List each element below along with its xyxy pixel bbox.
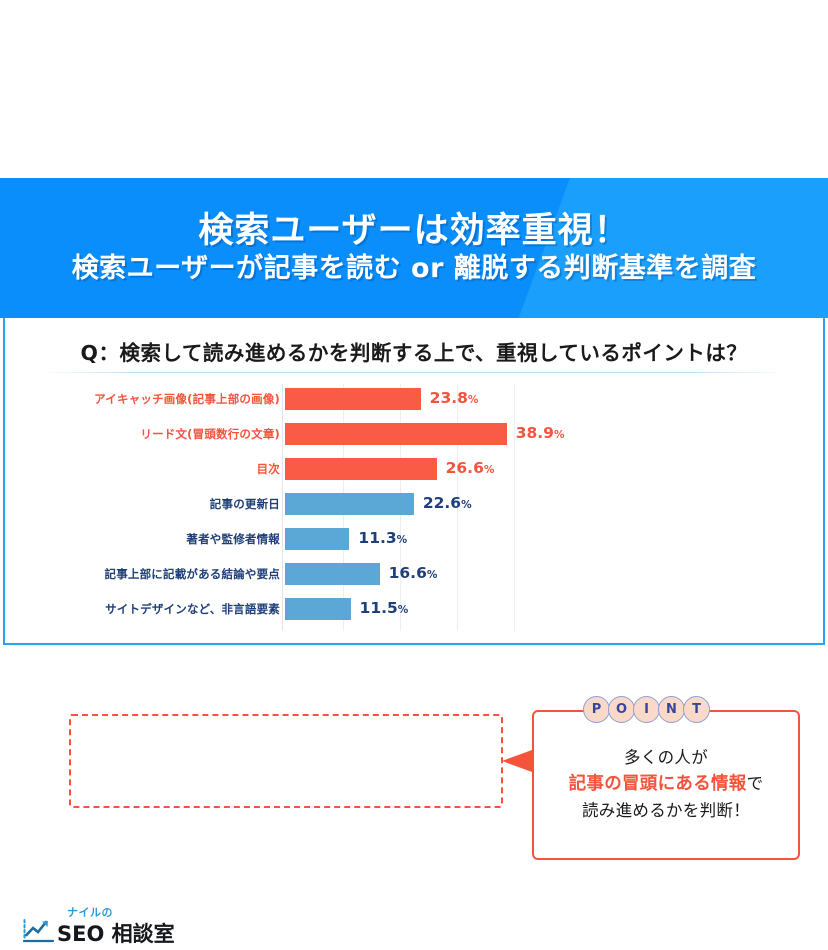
bar-rect <box>285 388 421 410</box>
question-heading: Q：検索して読み進めるかを判断する上で、重視しているポイントは？ <box>5 336 823 366</box>
bar-value-label: 11.3% <box>358 529 407 547</box>
chart-row: 記事の更新日22.6% <box>5 489 823 519</box>
bar-rect <box>285 458 437 480</box>
brand-logo: ナイルの SEO 相談室 <box>23 904 173 950</box>
bar-rect <box>285 598 351 620</box>
point-badge-letter: O <box>608 696 635 723</box>
logo-title: SEO 相談室 <box>57 918 175 948</box>
bar-chart: アイキャッチ画像(記事上部の画像)23.8%リード文(冒頭数行の文章)38.9%… <box>5 380 823 643</box>
bar-category-label: アイキャッチ画像(記事上部の画像) <box>94 391 280 407</box>
bar-rect <box>285 423 507 445</box>
bar-value-number: 11.3 <box>358 529 396 547</box>
infographic-root: 検索ユーザーは効率重視！ 検索ユーザーが記事を読む or 離脱する判断基準を調査… <box>0 0 828 828</box>
content-panel: Q：検索して読み進めるかを判断する上で、重視しているポイントは？ アイキャッチ画… <box>3 318 825 645</box>
bar-category-label: サイトデザインなど、非言語要素 <box>105 601 280 617</box>
callout-line2-highlight: 記事の冒頭にある情報 <box>569 774 747 794</box>
chart-row: 著者や監修者情報11.3% <box>5 524 823 554</box>
bar-value-number: 23.8 <box>430 389 468 407</box>
bar-value-label: 23.8% <box>430 389 479 407</box>
callout-line1: 多くの人が <box>534 745 798 771</box>
bar-value-label: 22.6% <box>423 494 472 512</box>
bar-value-label: 26.6% <box>446 459 495 477</box>
chart-row: 記事上部に記載がある結論や要点16.6% <box>5 559 823 589</box>
line-chart-icon <box>23 918 55 944</box>
bar-value-unit: % <box>554 429 565 441</box>
point-badge-letter: N <box>658 696 685 723</box>
point-badge-letter: T <box>683 696 710 723</box>
bar-category-label: 目次 <box>257 461 280 477</box>
bar-value-unit: % <box>461 499 472 511</box>
point-badge-letter: P <box>583 696 610 723</box>
bar-value-unit: % <box>398 604 409 616</box>
chart-row: アイキャッチ画像(記事上部の画像)23.8% <box>5 384 823 414</box>
highlight-dashed-box <box>69 714 503 808</box>
bar-value-unit: % <box>484 464 495 476</box>
chart-row: サイトデザインなど、非言語要素11.5% <box>5 594 823 624</box>
bar-category-label: リード文(冒頭数行の文章) <box>140 426 280 442</box>
question-divider <box>41 372 787 373</box>
chart-row: 目次26.6% <box>5 454 823 484</box>
callout-line2-tail: で <box>747 774 764 793</box>
header-banner: 検索ユーザーは効率重視！ 検索ユーザーが記事を読む or 離脱する判断基準を調査 <box>0 178 828 318</box>
bar-rect <box>285 563 380 585</box>
chart-row: リード文(冒頭数行の文章)38.9% <box>5 419 823 449</box>
bar-value-unit: % <box>427 569 438 581</box>
bar-value-number: 11.5 <box>360 599 398 617</box>
bar-category-label: 著者や監修者情報 <box>186 531 280 547</box>
bar-value-unit: % <box>468 394 479 406</box>
header-title-line1: 検索ユーザーは効率重視！ <box>198 213 629 250</box>
callout-line3: 読み進めるかを判断！ <box>534 798 798 824</box>
bar-rect <box>285 528 349 550</box>
bar-value-number: 38.9 <box>516 424 554 442</box>
bar-value-label: 11.5% <box>360 599 409 617</box>
header-text-group: 検索ユーザーは効率重視！ 検索ユーザーが記事を読む or 離脱する判断基準を調査 <box>0 178 828 318</box>
header-title-line2: 検索ユーザーが記事を読む or 離脱する判断基準を調査 <box>72 255 757 283</box>
bar-value-unit: % <box>397 534 408 546</box>
callout-text-group: 多くの人が 記事の冒頭にある情報で 読み進めるかを判断！ <box>534 745 798 823</box>
bar-rect <box>285 493 414 515</box>
point-badge-letter: I <box>633 696 660 723</box>
callout-arrow-icon <box>502 750 532 772</box>
point-callout-box: 多くの人が 記事の冒頭にある情報で 読み進めるかを判断！ <box>532 710 800 860</box>
bar-value-number: 22.6 <box>423 494 461 512</box>
callout-line2: 記事の冒頭にある情報で <box>534 771 798 798</box>
bar-value-number: 16.6 <box>389 564 427 582</box>
point-badge: POINT <box>583 696 710 723</box>
bar-category-label: 記事の更新日 <box>210 496 280 512</box>
bar-value-number: 26.6 <box>446 459 484 477</box>
bar-category-label: 記事上部に記載がある結論や要点 <box>105 566 281 582</box>
bar-value-label: 38.9% <box>516 424 565 442</box>
bar-value-label: 16.6% <box>389 564 438 582</box>
